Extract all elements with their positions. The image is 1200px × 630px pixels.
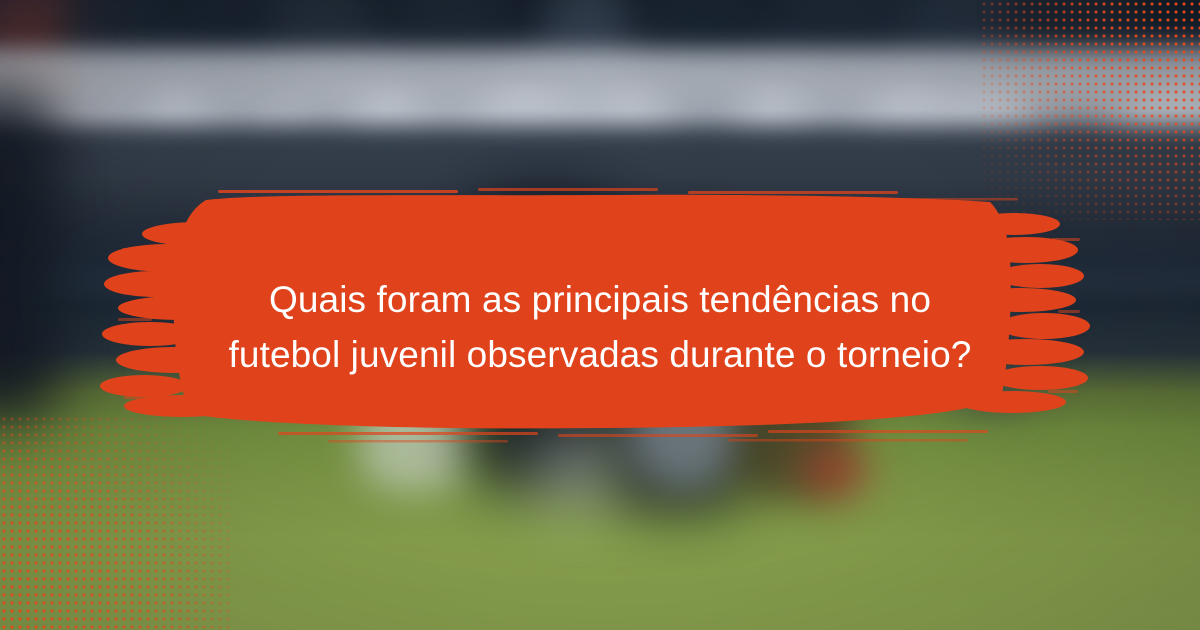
social-card: Quais foram as principais tendências no … — [0, 0, 1200, 630]
headline-text: Quais foram as principais tendências no … — [150, 272, 1050, 382]
